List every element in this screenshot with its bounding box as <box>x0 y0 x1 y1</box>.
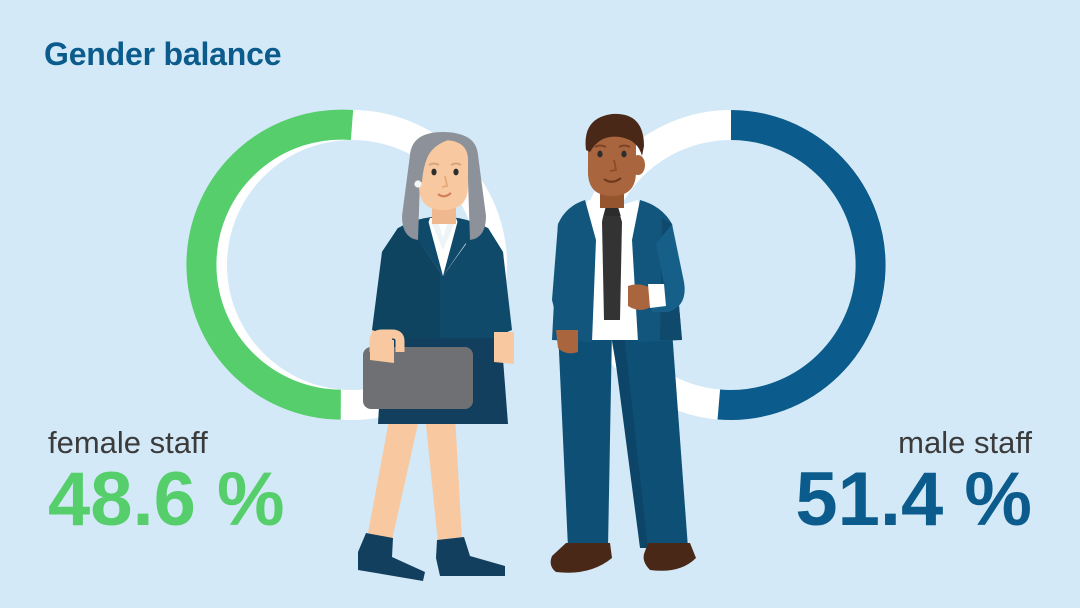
stat-male-value: 51.4 % <box>795 462 1032 538</box>
gender-balance-infographic: Gender balance <box>0 0 1080 608</box>
male-trouser-left <box>558 330 612 548</box>
male-shoe-right <box>644 543 696 571</box>
male-cuff-right <box>648 284 666 308</box>
female-earring <box>414 180 421 187</box>
stat-male-label: male staff <box>795 427 1032 460</box>
female-hand-grip <box>370 340 394 363</box>
male-eye-right <box>621 151 626 158</box>
female-leg-front <box>368 415 420 540</box>
female-leg-back <box>425 415 462 543</box>
female-eye-right <box>453 169 458 176</box>
female-eye-left <box>431 169 436 176</box>
male-tie <box>602 208 622 320</box>
male-eye-left <box>597 151 602 158</box>
stat-female: female staff 48.6 % <box>48 427 285 538</box>
male-shoe-left <box>551 543 612 573</box>
donut-arc-male <box>719 125 871 405</box>
stat-female-value: 48.6 % <box>48 462 285 538</box>
stat-male: male staff 51.4 % <box>795 427 1032 538</box>
female-shoe-back <box>436 537 505 576</box>
female-hand-right <box>494 332 514 364</box>
male-figure <box>551 114 696 573</box>
stat-female-label: female staff <box>48 427 285 460</box>
female-shoe-front <box>358 533 425 581</box>
male-ear <box>631 155 645 175</box>
